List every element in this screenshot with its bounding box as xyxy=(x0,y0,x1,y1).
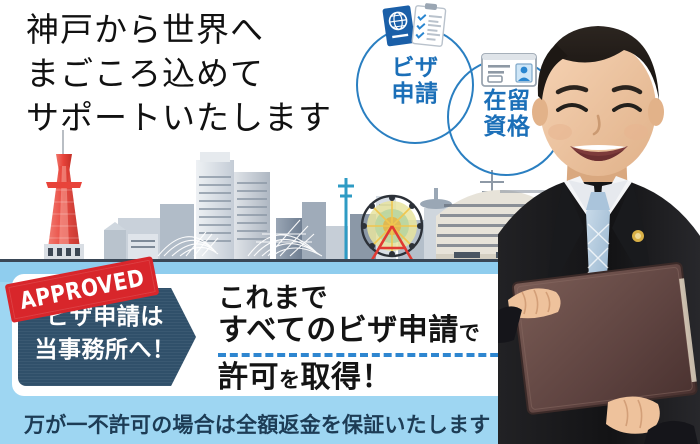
office-cta-line2: 当事務所へ！ xyxy=(30,333,180,366)
venn-label-visa-line1: ビザ xyxy=(376,55,454,81)
venn-label-visa-line2: 申請 xyxy=(376,81,454,107)
passport-clipboard-icon xyxy=(379,1,451,51)
refund-guarantee-main: 万が一不許可の場合は全額返金を保証いたします xyxy=(24,414,490,437)
kobe-port-tower xyxy=(44,130,84,260)
headline-line-2: まごころ込めて xyxy=(26,52,406,96)
claim-dashed-underline xyxy=(218,353,510,357)
headline-line-1: 神戸から世界へ xyxy=(26,8,406,52)
page-title: 神戸から世界へ まごころ込めて サポートいたします xyxy=(26,8,406,140)
venn-label-visa: ビザ 申請 xyxy=(376,55,454,107)
staff-photo xyxy=(498,0,700,444)
visa-service-banner: 神戸から世界へ まごころ込めて サポートいたします ビザ 申請 在留 資格 xyxy=(0,0,700,444)
headline-line-3: サポートいたします xyxy=(26,96,406,140)
claim-line-2-kana: で xyxy=(459,322,481,345)
claim-line-3-tail: 取得！ xyxy=(301,361,393,394)
claim-line-3-main: 許可 xyxy=(218,361,279,394)
claim-line-3-particle: を xyxy=(279,369,301,392)
claim-line-2-main: すべてのビザ申請 xyxy=(218,314,459,347)
